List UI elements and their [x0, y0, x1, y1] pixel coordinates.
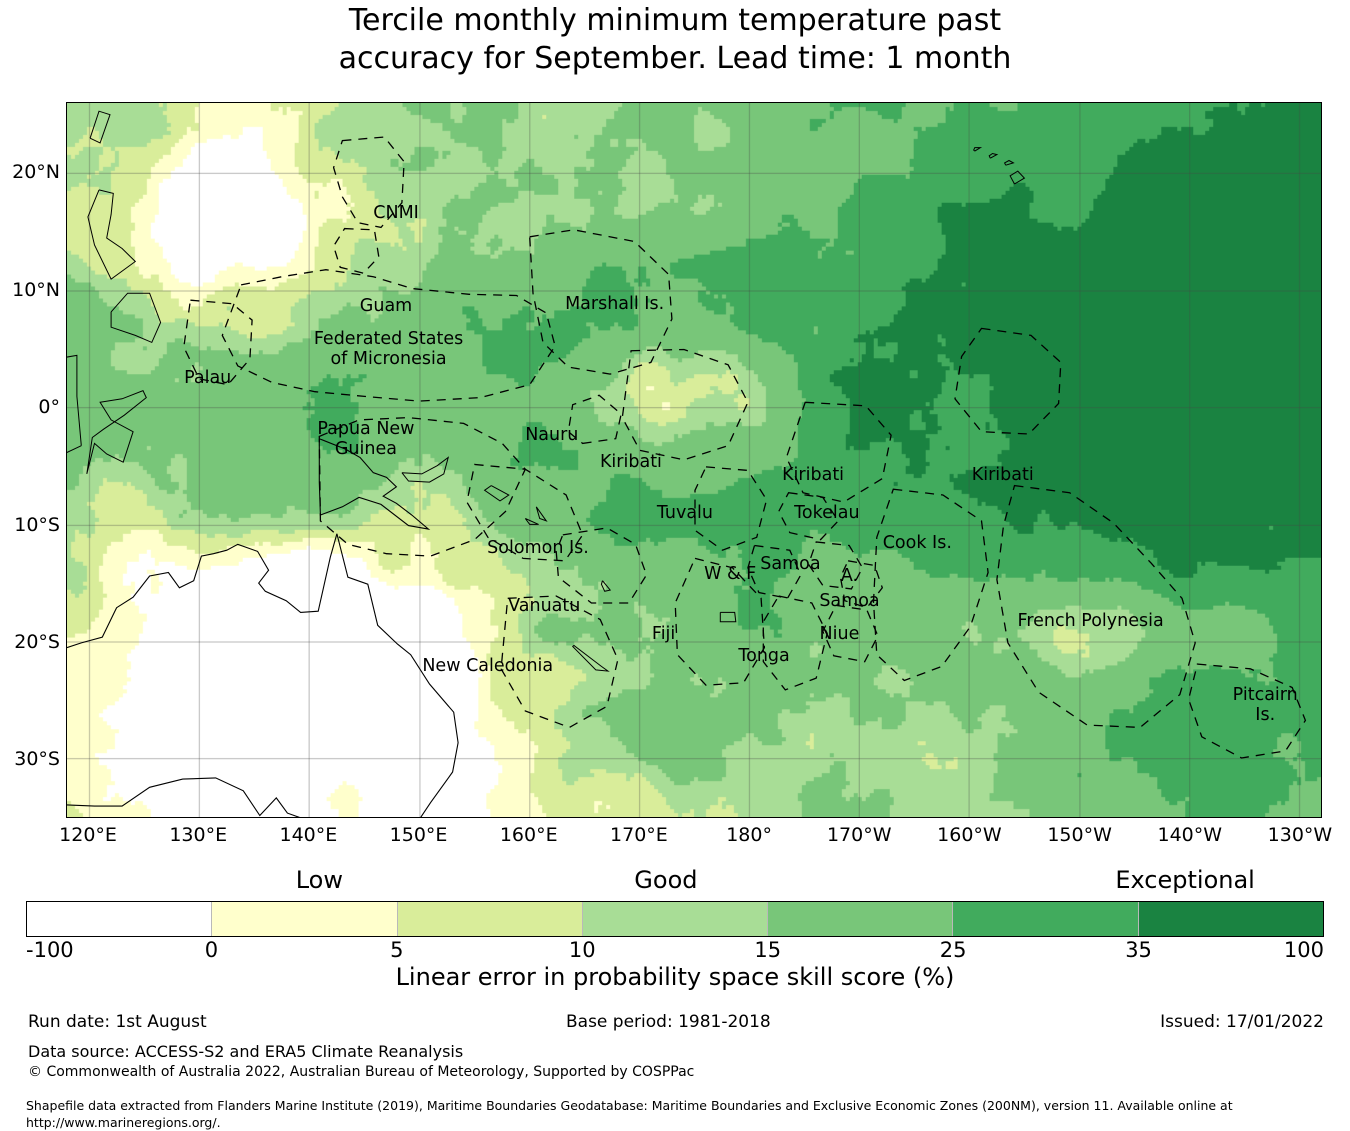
region-label: Samoa — [760, 554, 820, 574]
colorbar-segment-5 — [953, 902, 1138, 936]
region-label: Nauru — [525, 425, 578, 445]
issued-date-text: Issued: 17/01/2022 — [1160, 1012, 1324, 1032]
coastline-guadalcanal — [525, 519, 538, 525]
coastline-australia-south — [67, 778, 304, 818]
page-title: Tercile monthly minimum temperature past… — [0, 2, 1350, 78]
eez-french-polynesia — [997, 486, 1195, 728]
region-label: Guam — [360, 296, 412, 316]
region-label: Samoa — [819, 591, 879, 611]
region-label: Federated States of Micronesia — [314, 329, 463, 369]
colorbar-tick-1: 0 — [205, 938, 218, 962]
lon-tick-3: 150°E — [374, 824, 464, 846]
region-label: Cook Is. — [883, 533, 952, 553]
coastline-maui — [1005, 161, 1014, 166]
colorbar-segment-4 — [768, 902, 953, 936]
coastline-australia-east — [337, 534, 458, 818]
region-label: Tuvalu — [657, 503, 713, 523]
colorbar-tick-5: 25 — [940, 938, 967, 962]
map-overlay-vectors — [67, 103, 1322, 818]
coastline-luzon — [88, 190, 135, 279]
lat-tick-2: 0° — [4, 396, 60, 418]
lon-tick-2: 140°E — [263, 824, 353, 846]
coastline-borneo — [67, 355, 81, 455]
colorbar-tick-7: 100 — [1284, 938, 1324, 962]
region-label: Niue — [820, 624, 860, 644]
copyright-text: © Commonwealth of Australia 2022, Austra… — [28, 1064, 694, 1080]
eez-kiribati-gilbert — [622, 350, 748, 460]
coastline-taiwan — [90, 111, 110, 143]
colorbar-segment-6 — [1139, 902, 1323, 936]
region-label: Vanuatu — [508, 596, 580, 616]
colorbar-category-labels: LowGoodExceptional — [0, 866, 1350, 896]
data-source-text: Data source: ACCESS-S2 and ERA5 Climate … — [28, 1042, 463, 1061]
coastline-fiji-viti-levu — [720, 612, 736, 621]
colorbar-segment-1 — [212, 902, 397, 936]
region-label: Solomon Is. — [487, 538, 589, 558]
region-label: CNMI — [373, 203, 419, 223]
lon-tick-0: 120°E — [43, 824, 133, 846]
lon-tick-10: 140°W — [1145, 824, 1235, 846]
footer-row-primary: Run date: 1st August Base period: 1981-2… — [0, 1012, 1350, 1038]
lon-tick-11: 130°W — [1255, 824, 1345, 846]
run-date-text: Run date: 1st August — [28, 1012, 207, 1032]
shapefile-attribution-text: Shapefile data extracted from Flanders M… — [26, 1097, 1326, 1131]
lon-tick-1: 130°E — [153, 824, 243, 846]
eez-tonga — [763, 596, 827, 690]
coastline-hawaii-island — [1010, 171, 1024, 184]
colorbar-segment-2 — [398, 902, 583, 936]
eez-kiribati-line — [955, 328, 1061, 434]
region-label: Kiribati — [600, 452, 662, 472]
lon-tick-9: 150°W — [1035, 824, 1125, 846]
lat-tick-3: 10°S — [4, 514, 60, 536]
colorbar-tick-2: 5 — [390, 938, 403, 962]
region-label: Tonga — [738, 646, 789, 666]
colorbar-axis-label: Linear error in probability space skill … — [0, 963, 1350, 991]
region-label: Kiribati — [972, 465, 1034, 485]
lon-tick-8: 160°W — [924, 824, 1014, 846]
lat-tick-1: 10°N — [4, 279, 60, 301]
colorbar-tick-3: 10 — [569, 938, 596, 962]
region-label: New Caledonia — [422, 656, 553, 676]
region-label: Kiribati — [782, 465, 844, 485]
colorbar-tick-6: 35 — [1125, 938, 1152, 962]
lon-tick-6: 180° — [704, 824, 794, 846]
colorbar-segment-0 — [27, 902, 212, 936]
coastline-espiritu-santo — [601, 581, 610, 592]
region-label: A. — [841, 566, 858, 586]
coastline-kauai — [974, 148, 981, 152]
base-period-text: Base period: 1981-2018 — [566, 1012, 771, 1032]
lat-tick-0: 20°N — [4, 161, 60, 183]
lon-tick-5: 170°E — [594, 824, 684, 846]
region-label: W & F — [704, 564, 756, 584]
coastline-new-caledonia — [573, 645, 608, 671]
coastline-solomon-choiseul — [485, 486, 509, 501]
colorbar — [26, 901, 1324, 937]
region-label: Pitcairn Is. — [1233, 685, 1298, 725]
lat-tick-4: 20°S — [4, 631, 60, 653]
eez-kiribati-phoenix — [786, 402, 891, 502]
region-label: French Polynesia — [1018, 611, 1164, 631]
coastline-malaita — [536, 507, 546, 521]
lat-tick-5: 30°S — [4, 748, 60, 770]
colorbar-tick-0: -100 — [26, 938, 74, 962]
colorbar-category-low: Low — [296, 866, 343, 894]
footer: Run date: 1st August Base period: 1981-2… — [0, 1012, 1350, 1038]
coastline-new-britain — [402, 458, 448, 483]
colorbar-segment-3 — [583, 902, 768, 936]
colorbar-tick-labels: -1000510152535100 — [0, 938, 1350, 964]
eez-cook-islands — [874, 489, 989, 680]
region-label: Papua New Guinea — [317, 419, 414, 459]
coastline-mindanao — [111, 293, 161, 342]
lon-tick-7: 170°W — [814, 824, 904, 846]
map-plot-area: CNMIGuamMarshall Is.Federated States of … — [66, 102, 1322, 818]
colorbar-tick-4: 15 — [754, 938, 781, 962]
coastline-oahu — [989, 154, 997, 159]
region-label: Marshall Is. — [565, 294, 664, 314]
region-label: Palau — [184, 368, 231, 388]
coastline-sulawesi — [87, 391, 147, 474]
colorbar-category-good: Good — [634, 866, 697, 894]
region-label: Fiji — [652, 624, 675, 644]
colorbar-category-exceptional: Exceptional — [1115, 866, 1255, 894]
region-label: Tokelau — [794, 503, 859, 523]
lon-tick-4: 160°E — [484, 824, 574, 846]
eez-guam — [334, 229, 379, 274]
coastline-australia-north — [67, 534, 337, 648]
